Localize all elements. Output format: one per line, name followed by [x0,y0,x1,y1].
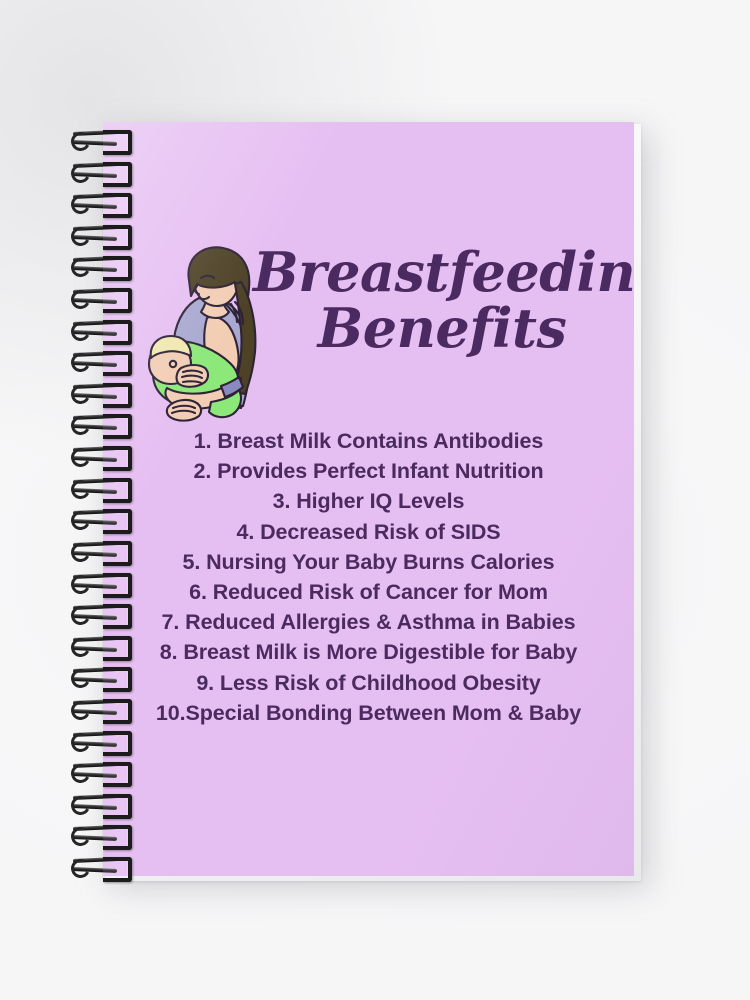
coil-wire-loop [103,573,132,598]
cover-title-line-2: Benefits [253,304,631,354]
list-item: 10.Special Bonding Between Mom & Baby [115,698,622,728]
spiral-coil [73,794,128,811]
coil-wire-loop [103,731,132,756]
spiral-coil [73,193,128,210]
spiral-coil [73,383,128,400]
benefits-list: 1. Breast Milk Contains Antibodies 2. Pr… [115,426,622,728]
cover-title-line-1: Breastfeeding [253,248,631,298]
coil-wire-loop [103,225,132,250]
spiral-coil [73,731,128,748]
list-item: 5. Nursing Your Baby Burns Calories [115,547,622,577]
coil-wire-loop [103,825,132,850]
coil-wire-loop [103,667,132,692]
coil-wire-loop [103,130,132,155]
spiral-coil [73,667,128,684]
spiral-coil [73,288,128,305]
spiral-coil [73,320,128,337]
coil-wire-loop [103,636,132,661]
coil-wire-loop [103,320,132,345]
spiral-coil [73,541,128,558]
cover-title: Breastfeeding Benefits [253,248,631,353]
spiral-coil [73,604,128,621]
coil-wire-loop [103,857,132,882]
coil-wire-loop [103,193,132,218]
coil-wire-loop [103,699,132,724]
spiral-coil [73,699,128,716]
coil-wire-loop [103,794,132,819]
coil-wire-loop [103,162,132,187]
notebook-cover: Breastfeeding Benefits 1. Breast Milk Co… [103,122,634,876]
list-item: 9. Less Risk of Childhood Obesity [115,668,622,698]
list-item: 1. Breast Milk Contains Antibodies [115,426,622,456]
spiral-coil [73,636,128,653]
spiral-coil [73,130,128,147]
coil-wire-loop [103,762,132,787]
coil-wire-loop [103,541,132,566]
spiral-coil [73,825,128,842]
spiral-coil [73,256,128,273]
spiral-coil [73,478,128,495]
list-item: 3. Higher IQ Levels [115,486,622,516]
spiral-coil [73,446,128,463]
coil-wire-loop [103,288,132,313]
spiral-coil [73,225,128,242]
list-item: 6. Reduced Risk of Cancer for Mom [115,577,622,607]
coil-wire-loop [103,383,132,408]
spiral-coil [73,857,128,874]
coil-wire-loop [103,509,132,534]
list-item: 8. Breast Milk is More Digestible for Ba… [115,637,622,667]
list-item: 4. Decreased Risk of SIDS [115,517,622,547]
product-photo-scene: Breastfeeding Benefits 1. Breast Milk Co… [0,0,750,1000]
coil-wire-loop [103,446,132,471]
spiral-coil [73,573,128,590]
spiral-binding [73,130,151,874]
coil-wire-loop [103,414,132,439]
spiral-notebook: Breastfeeding Benefits 1. Breast Milk Co… [103,122,639,879]
list-item: 2. Provides Perfect Infant Nutrition [115,456,622,486]
list-item: 7. Reduced Allergies & Asthma in Babies [115,607,622,637]
spiral-coil [73,762,128,779]
coil-wire-loop [103,351,132,376]
spiral-coil [73,414,128,431]
spiral-coil [73,351,128,368]
coil-wire-loop [103,478,132,503]
coil-wire-loop [103,256,132,281]
coil-wire-loop [103,604,132,629]
spiral-coil [73,162,128,179]
spiral-coil [73,509,128,526]
